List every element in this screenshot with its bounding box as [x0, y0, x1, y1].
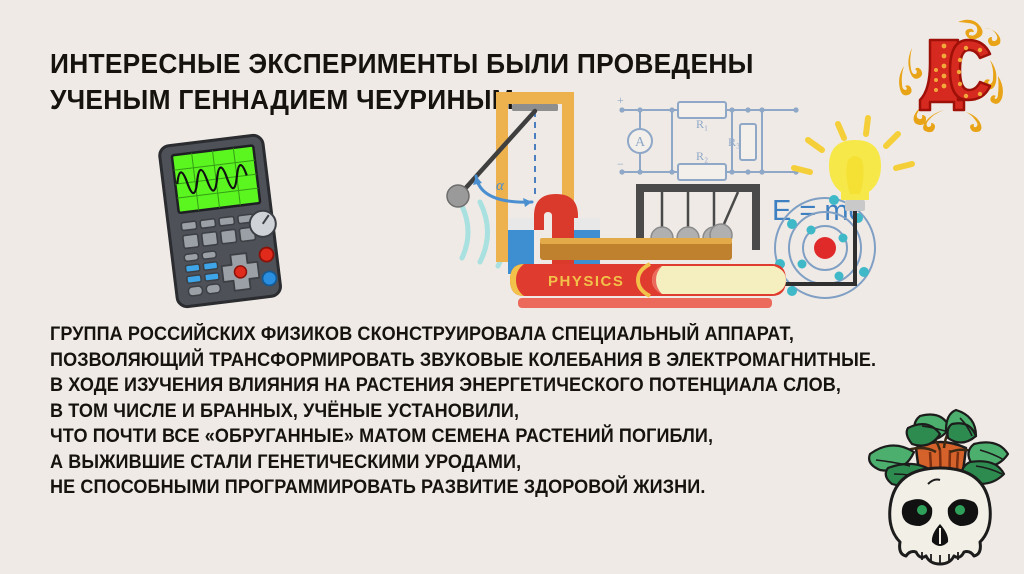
skull-eye-left	[902, 499, 932, 526]
body-line-1: Группа российских физиков сконструировал…	[50, 322, 829, 348]
body-text: Группа российских физиков сконструировал…	[50, 322, 829, 501]
circuit-resistor-2-label: R₂	[696, 149, 708, 163]
pendulum-angle-label: α	[496, 178, 505, 194]
resistor-circuit-diagram: + − A R₁ R₂ R₃	[617, 93, 799, 180]
circuit-resistor-1-label: R₁	[696, 117, 708, 131]
body-line-7: не способными программировать развитие з…	[50, 475, 829, 501]
body-line-6: а выжившие стали генетическими уродами,	[50, 450, 829, 476]
scope-blue-button	[262, 271, 278, 287]
body-line-4: в том числе и бранных, учёные установили…	[50, 399, 829, 425]
pendulum-bob	[447, 185, 469, 207]
monogram-logo	[886, 12, 1010, 128]
oscilloscope-illustration	[152, 132, 288, 308]
skull-eye-glow-right	[955, 505, 965, 515]
skull-icon	[890, 468, 991, 564]
scope-red-button	[259, 247, 275, 263]
bulb-base	[845, 200, 865, 211]
skull-eye-glow-left	[917, 505, 927, 515]
horseshoe-magnet-icon	[508, 194, 600, 274]
skull-plant-illustration	[858, 406, 1022, 574]
monogram-letter-s-icon	[950, 40, 990, 100]
atom-nucleus	[814, 237, 836, 259]
body-line-2: позволяющий трансформировать звуковые ко…	[50, 348, 829, 374]
circuit-terminal-minus: −	[617, 157, 624, 171]
body-line-3: В ходе изучения влияния на растения энер…	[50, 373, 829, 399]
circuit-resistor-3-label: R₃	[728, 135, 740, 149]
circuit-terminal-plus: +	[617, 93, 624, 107]
slide-canvas: Интересные эксперименты были проведены у…	[0, 0, 1024, 574]
physics-book-stack: PHYSICS	[510, 238, 786, 308]
circuit-ammeter-label: A	[635, 135, 646, 150]
physics-book-title: PHYSICS	[548, 273, 624, 290]
body-line-5: что почти все «обруганные» матом семена …	[50, 424, 829, 450]
science-collage-illustration: α	[440, 88, 900, 318]
headline-line-1: Интересные эксперименты были проведены	[50, 46, 708, 82]
